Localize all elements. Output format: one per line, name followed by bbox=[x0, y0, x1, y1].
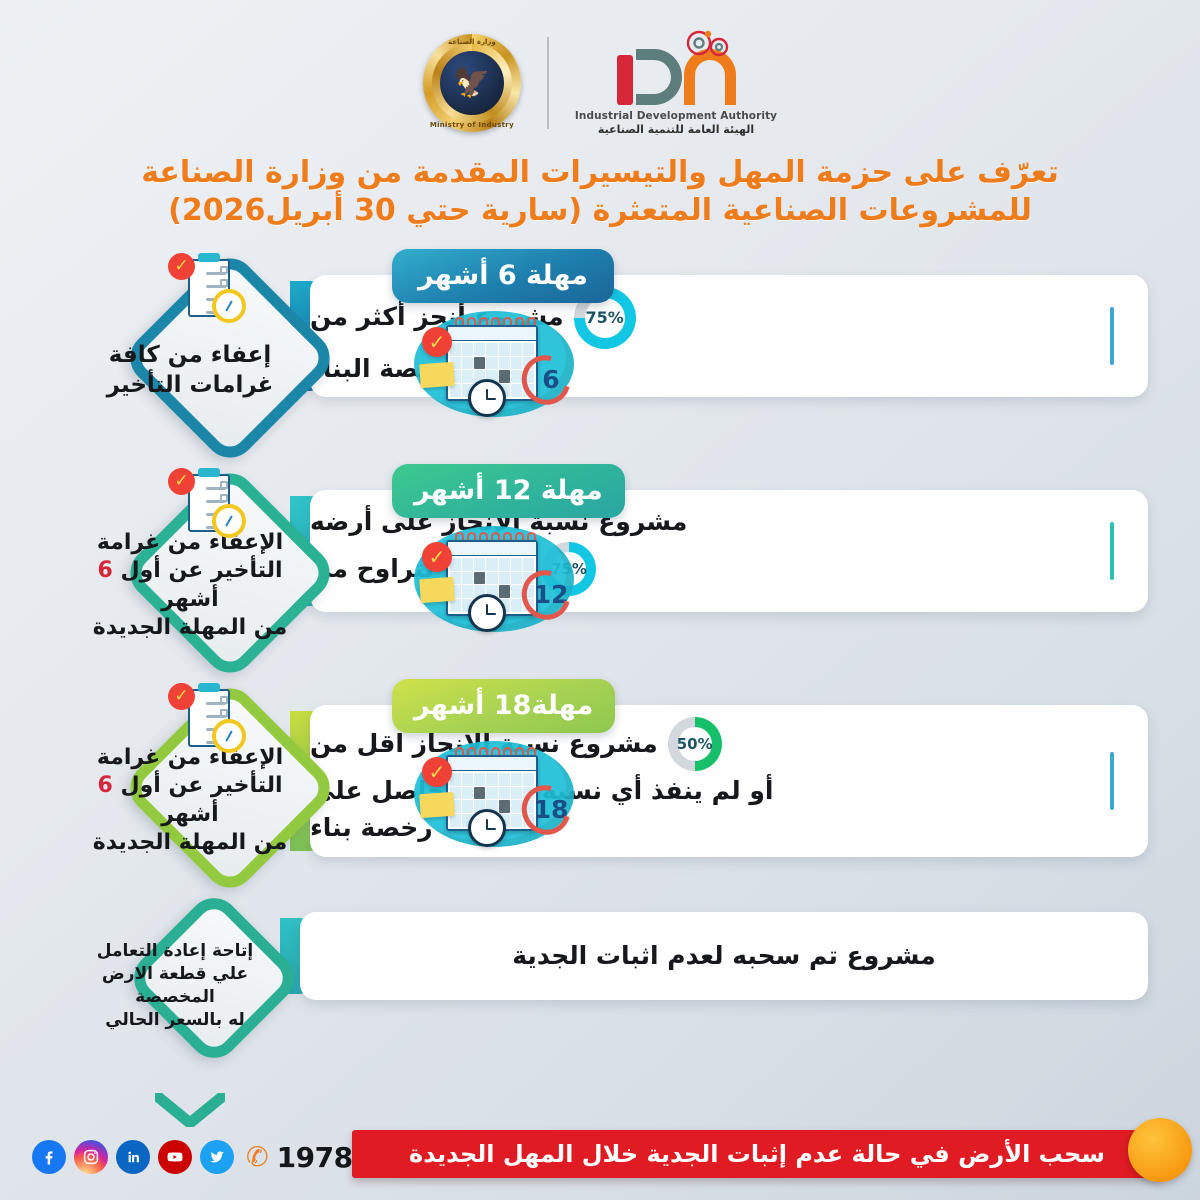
page-title-line2: للمشروعات الصناعية المتعثرة (سارية حتي 3… bbox=[60, 192, 1140, 230]
benefit-diamond-2: ✓ الإعفاء من غرامة التأخير عن أول 6 أشهر… bbox=[72, 470, 308, 676]
benefit-text-2-l3: من المهلة الجديدة bbox=[92, 614, 288, 643]
calendar-header-2 bbox=[448, 542, 536, 556]
linkedin-icon[interactable] bbox=[116, 1140, 150, 1174]
header: Industrial Development Authority الهيئة … bbox=[0, 0, 1200, 150]
calendar-illustration-1: ✓ 6 bbox=[398, 305, 588, 423]
clipboard-clip-1 bbox=[198, 253, 220, 262]
benefit-diamond-1: ✓ إعفاء من كافة غرامات التأخير bbox=[72, 255, 308, 461]
clipboard-clip-3 bbox=[198, 683, 220, 692]
clock-icon-3 bbox=[468, 809, 506, 847]
phone-icon: ✆ bbox=[246, 1144, 269, 1171]
warning-banner: سحب الأرض في حالة عدم إثبات الجدية خلال … bbox=[352, 1130, 1162, 1178]
card-tick-1 bbox=[1110, 307, 1114, 365]
sticky-note-2 bbox=[419, 577, 455, 603]
calendar-illustration-2: ✓ 12 bbox=[398, 520, 588, 638]
gauge-value-row1: 75% bbox=[585, 308, 623, 327]
benefit-text-2-pre: التأخير عن أول bbox=[120, 558, 282, 583]
calendar-header-3 bbox=[448, 757, 536, 771]
benefit-text-3-l3: من المهلة الجديدة bbox=[92, 829, 288, 858]
calendar-illustration-3: ✓ 18 bbox=[398, 735, 588, 853]
social-links: ✆ 19780 bbox=[32, 1140, 372, 1174]
check-badge-icon-clip-2: ✓ bbox=[168, 468, 195, 495]
benefit-text-3-post: أشهر bbox=[161, 802, 218, 827]
check-badge-icon-2: ✓ bbox=[422, 542, 452, 572]
rows-container: 75% مشروع أنجز أكثر من من رخصة البناء مه… bbox=[0, 249, 1200, 1044]
check-badge-icon-clip-1: ✓ bbox=[168, 253, 195, 280]
ida-logo: Industrial Development Authority الهيئة … bbox=[575, 31, 777, 136]
chevron-down-icon bbox=[155, 1093, 225, 1127]
orange-circle-decoration bbox=[1128, 1118, 1192, 1182]
check-badge-icon-clip-3: ✓ bbox=[168, 683, 195, 710]
benefit-text-2-num: 6 bbox=[98, 558, 113, 583]
stopwatch-icon-2 bbox=[212, 504, 246, 538]
calendar-month-count-2: 12 bbox=[528, 572, 574, 618]
clipboard-illustration-1: ✓ bbox=[168, 253, 246, 325]
page-title-line1: تعرّف على حزمة المهل والتيسيرات المقدمة … bbox=[60, 154, 1140, 192]
ida-logomark bbox=[617, 31, 736, 105]
stopwatch-icon-3 bbox=[212, 719, 246, 753]
row-withdrawn: مشروع تم سحبه لعدم اثبات الجدية إتاحة إع… bbox=[0, 894, 1200, 1044]
seal-text-ar: وزارة الصناعة bbox=[423, 38, 521, 46]
card-tick-2 bbox=[1110, 522, 1114, 580]
badge-12-months: مهلة 12 أشهر bbox=[392, 464, 625, 518]
benefit-text-3-num: 6 bbox=[98, 773, 113, 798]
ida-letter-i bbox=[617, 55, 633, 105]
condition-card-4: مشروع تم سحبه لعدم اثبات الجدية bbox=[300, 912, 1148, 1000]
sticky-note-1 bbox=[419, 362, 455, 388]
benefit-text-4-l2: علي قطعة الارض المخصصة bbox=[80, 963, 270, 1009]
calendar-header-1 bbox=[448, 327, 536, 341]
benefit-text-4-l1: إتاحة إعادة التعامل bbox=[80, 940, 270, 963]
benefit-text-3-pre: التأخير عن أول bbox=[120, 773, 282, 798]
benefit-text-3-l2: التأخير عن أول 6 أشهر bbox=[92, 772, 288, 829]
sticky-note-3 bbox=[419, 792, 455, 818]
calendar-month-count-3: 18 bbox=[528, 787, 574, 833]
gauge-value-row3: 50% bbox=[677, 735, 713, 753]
seal-core: 🦅 bbox=[440, 51, 504, 115]
instagram-icon[interactable] bbox=[74, 1140, 108, 1174]
card-tick-3 bbox=[1110, 752, 1114, 810]
clipboard-illustration-2: ✓ bbox=[168, 468, 246, 540]
badge-18-months: مهلة18 أشهر bbox=[392, 679, 615, 733]
ida-letter-d bbox=[636, 49, 682, 105]
seal-text-en: Ministry of Industry bbox=[423, 121, 521, 129]
benefit-text-4: إتاحة إعادة التعامل علي قطعة الارض المخص… bbox=[80, 940, 270, 1031]
row-12-months: مشروع نسبة الإنجاز على أرضه 75% ◄ 50% تت… bbox=[0, 464, 1200, 679]
check-badge-icon-1: ✓ bbox=[422, 327, 452, 357]
condition-text-row4: مشروع تم سحبه لعدم اثبات الجدية bbox=[300, 939, 1148, 972]
gears-icon bbox=[686, 29, 732, 59]
eagle-of-saladin-icon: 🦅 bbox=[453, 68, 490, 98]
ministry-of-industry-seal: 🦅 وزارة الصناعة Ministry of Industry bbox=[423, 34, 521, 132]
row-18-months: 50% مشروع نسبة الإنجاز اقل من أو لم ينفذ… bbox=[0, 679, 1200, 894]
clipboard-illustration-3: ✓ bbox=[168, 683, 246, 755]
benefit-diamond-4: إتاحة إعادة التعامل علي قطعة الارض المخص… bbox=[72, 890, 278, 1066]
youtube-icon[interactable] bbox=[158, 1140, 192, 1174]
calendar-month-count-1: 6 bbox=[528, 357, 574, 403]
twitter-icon[interactable] bbox=[200, 1140, 234, 1174]
benefit-text-2-post: أشهر bbox=[161, 587, 218, 612]
logo-divider bbox=[547, 37, 549, 129]
ida-caption-en: Industrial Development Authority bbox=[575, 110, 777, 122]
ida-caption-ar: الهيئة العامة للتنمية الصناعية bbox=[598, 123, 754, 136]
benefit-text-2: الإعفاء من غرامة التأخير عن أول 6 أشهر م… bbox=[92, 529, 288, 643]
facebook-icon[interactable] bbox=[32, 1140, 66, 1174]
benefit-text-3: الإعفاء من غرامة التأخير عن أول 6 أشهر م… bbox=[92, 744, 288, 858]
page-title: تعرّف على حزمة المهل والتيسيرات المقدمة … bbox=[60, 154, 1140, 231]
clipboard-clip-2 bbox=[198, 468, 220, 477]
clock-icon-1 bbox=[468, 379, 506, 417]
clock-icon-2 bbox=[468, 594, 506, 632]
row-6-months: 75% مشروع أنجز أكثر من من رخصة البناء مه… bbox=[0, 249, 1200, 464]
gauge-50-percent-row3: 50% bbox=[668, 717, 722, 771]
benefit-text-2-l2: التأخير عن أول 6 أشهر bbox=[92, 557, 288, 614]
stopwatch-icon-1 bbox=[212, 289, 246, 323]
benefit-text-4-l3: له بالسعر الحالي bbox=[80, 1009, 270, 1032]
check-badge-icon-3: ✓ bbox=[422, 757, 452, 787]
badge-6-months: مهلة 6 أشهر bbox=[392, 249, 614, 303]
warning-banner-text: سحب الأرض في حالة عدم إثبات الجدية خلال … bbox=[409, 1140, 1105, 1168]
benefit-text-1: إعفاء من كافة غرامات التأخير bbox=[92, 341, 288, 401]
benefit-diamond-3: ✓ الإعفاء من غرامة التأخير عن أول 6 أشهر… bbox=[72, 685, 308, 891]
